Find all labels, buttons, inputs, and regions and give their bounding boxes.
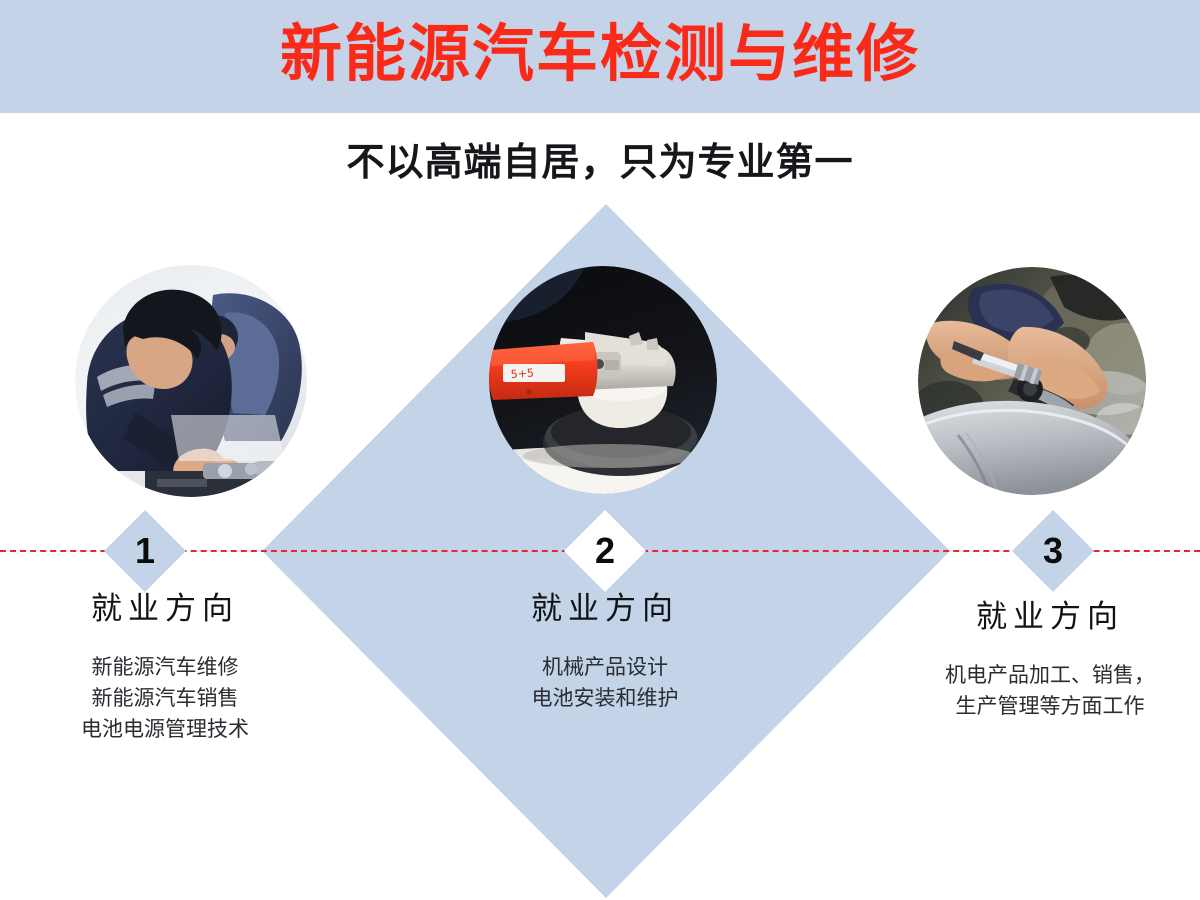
photo-students-working	[75, 265, 307, 497]
list-item: 机电产品加工、销售，	[900, 660, 1200, 691]
photo-angle-grinder-image: 5+5	[489, 266, 717, 494]
career-column-3-heading: 就业方向	[900, 596, 1200, 638]
slide-canvas: 新能源汽车检测与维修 不以高端自居，只为专业第一	[0, 0, 1200, 900]
step-badge-2: 2	[564, 510, 646, 592]
career-column-1-heading: 就业方向	[20, 588, 310, 630]
photo-students-working-image	[75, 265, 307, 497]
step-badge-3: 3	[1012, 510, 1094, 592]
page-subtitle: 不以高端自居，只为专业第一	[0, 137, 1200, 189]
svg-text:5+5: 5+5	[510, 366, 534, 381]
list-item: 新能源汽车维修	[20, 652, 310, 683]
step-badge-3-number: 3	[1012, 510, 1094, 592]
career-column-3: 就业方向 机电产品加工、销售， 生产管理等方面工作	[900, 596, 1200, 722]
career-column-1: 就业方向 新能源汽车维修 新能源汽车销售 电池电源管理技术	[20, 588, 310, 745]
list-item: 生产管理等方面工作	[900, 691, 1200, 722]
career-column-2-heading: 就业方向	[460, 588, 750, 630]
photo-hands-tool	[918, 267, 1146, 495]
career-column-1-lines: 新能源汽车维修 新能源汽车销售 电池电源管理技术	[20, 652, 310, 745]
photo-hands-tool-image	[918, 267, 1146, 495]
list-item: 电池安装和维护	[460, 683, 750, 714]
step-badge-1-number: 1	[104, 510, 186, 592]
career-column-3-lines: 机电产品加工、销售， 生产管理等方面工作	[900, 660, 1200, 722]
list-item: 机械产品设计	[460, 652, 750, 683]
header-banner: 新能源汽车检测与维修	[0, 0, 1200, 113]
page-title: 新能源汽车检测与维修	[0, 16, 1200, 94]
list-item: 新能源汽车销售	[20, 683, 310, 714]
photo-angle-grinder: 5+5	[489, 266, 717, 494]
career-column-2: 就业方向 机械产品设计 电池安装和维护	[460, 588, 750, 714]
career-column-2-lines: 机械产品设计 电池安装和维护	[460, 652, 750, 714]
step-badge-2-number: 2	[564, 510, 646, 592]
list-item: 电池电源管理技术	[20, 714, 310, 745]
step-badge-1: 1	[104, 510, 186, 592]
